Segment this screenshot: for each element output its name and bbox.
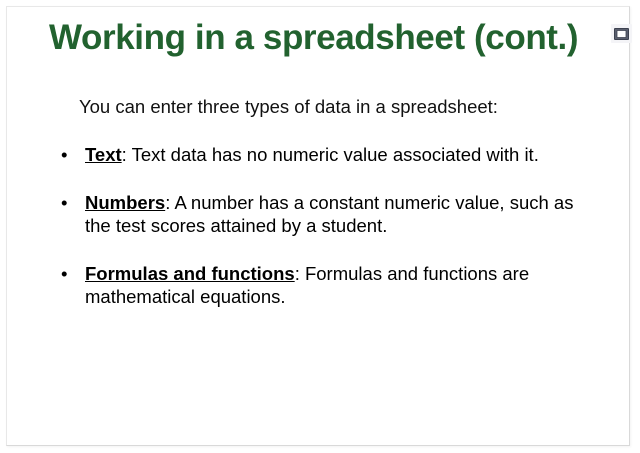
bullet-marker-icon: •: [61, 143, 67, 166]
presentation-screen-icon[interactable]: [611, 24, 632, 43]
bullet-marker-icon: •: [61, 191, 67, 214]
bullet-item-numbers: •Numbers: A number has a constant numeri…: [7, 191, 631, 237]
bullet-term-formulas: Formulas and functions: [85, 263, 295, 284]
bullet-term-text: Text: [85, 144, 122, 165]
intro-line: You can enter three types of data in a s…: [79, 95, 599, 119]
slide-canvas: Working in a spreadsheet (cont.) You can…: [6, 6, 630, 446]
slide-title: Working in a spreadsheet (cont.): [49, 15, 599, 63]
bullet-item-text: •Text: Text data has no numeric value as…: [7, 143, 631, 166]
bullet-description-text: : Text data has no numeric value associa…: [122, 144, 539, 165]
bullet-marker-icon: •: [61, 262, 67, 285]
bullet-list: •Text: Text data has no numeric value as…: [7, 143, 631, 308]
slide-body: You can enter three types of data in a s…: [7, 83, 631, 413]
slide-frame: Working in a spreadsheet (cont.) You can…: [0, 0, 640, 453]
bullet-item-formulas: •Formulas and functions: Formulas and fu…: [7, 262, 631, 308]
bullet-term-numbers: Numbers: [85, 192, 165, 213]
